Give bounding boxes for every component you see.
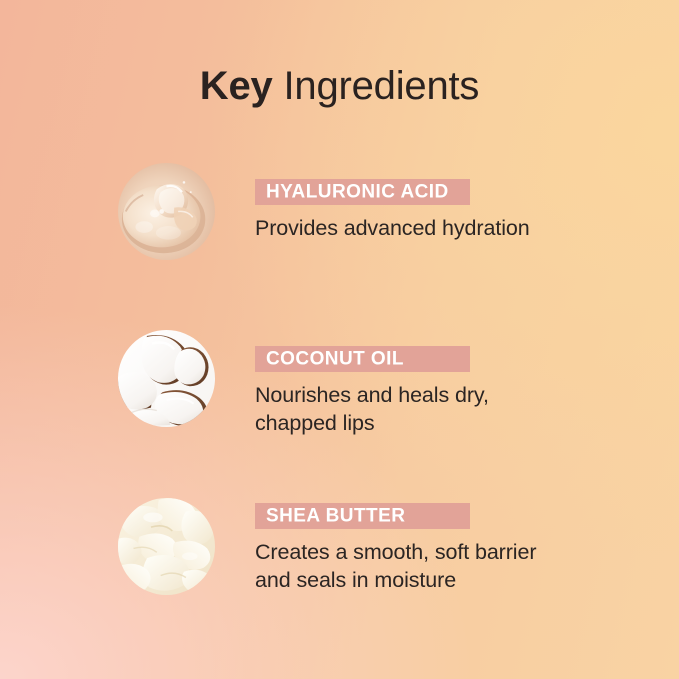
ingredient-row: SHEA BUTTER Creates a smooth, soft barri… [0,495,679,615]
ingredient-name-badge: HYALURONIC ACID [255,179,470,205]
shea-butter-image [118,498,215,595]
ingredient-name: HYALURONIC ACID [266,183,449,202]
ingredient-description: Creates a smooth, soft barrier and seals… [255,538,655,594]
ingredient-description: Nourishes and heals dry, chapped lips [255,381,655,437]
ingredient-text: HYALURONIC ACID Provides advanced hydrat… [255,160,655,242]
ingredient-row: HYALURONIC ACID Provides advanced hydrat… [0,160,679,280]
ingredient-description: Provides advanced hydration [255,214,655,242]
ingredient-text: SHEA BUTTER Creates a smooth, soft barri… [255,495,655,594]
key-ingredients-card: Key Ingredients [0,0,679,679]
coconut-oil-image [118,330,215,427]
page-title-regular: Ingredients [273,64,480,108]
ingredient-name-badge: SHEA BUTTER [255,503,470,529]
ingredient-name: SHEA BUTTER [266,507,405,526]
hyaluronic-acid-image [118,163,215,260]
ingredient-name-badge: COCONUT OIL [255,346,470,372]
page-title-bold: Key [200,64,273,108]
page-title: Key Ingredients [0,62,679,110]
ingredient-row: COCONUT OIL Nourishes and heals dry, cha… [0,327,679,447]
ingredient-name: COCONUT OIL [266,350,404,369]
ingredient-text: COCONUT OIL Nourishes and heals dry, cha… [255,327,655,437]
